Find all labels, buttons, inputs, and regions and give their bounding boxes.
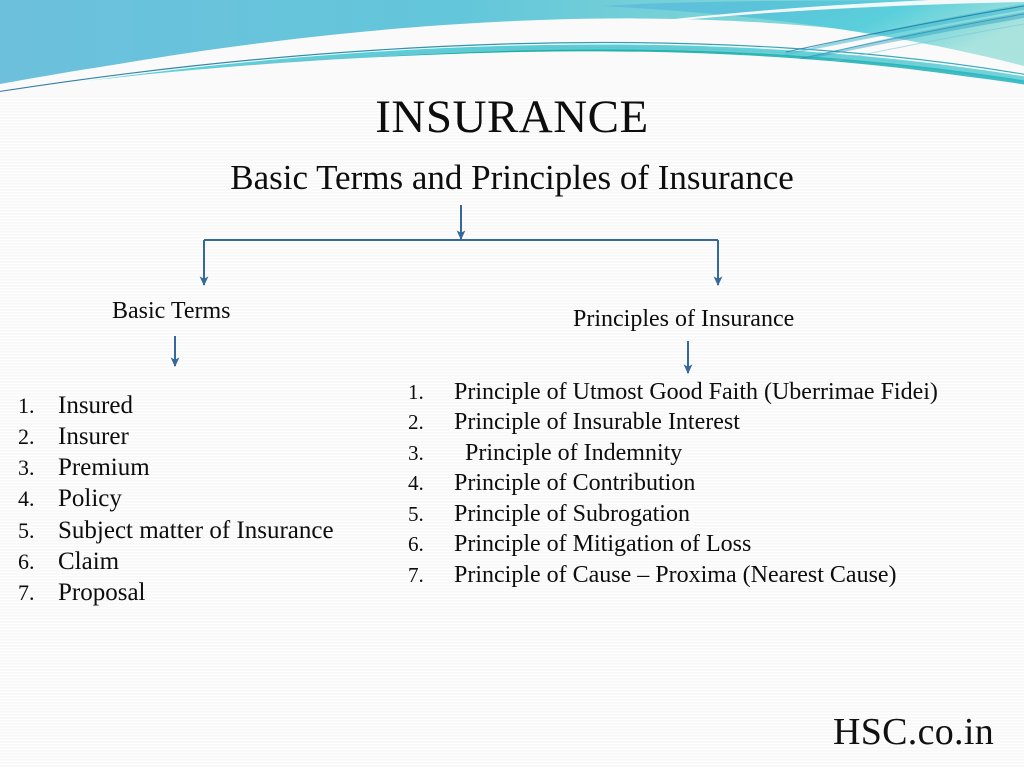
decorative-wave-header-graphic — [0, 0, 1024, 96]
list-item: 6. Claim — [18, 546, 334, 577]
list-item-label: Principle of Cause – Proxima (Nearest Ca… — [454, 560, 897, 590]
list-item: 3. Principle of Indemnity — [408, 438, 938, 468]
footer-watermark: HSC.co.in — [833, 710, 994, 754]
list-item-label: Premium — [58, 452, 150, 483]
list-item-number: 3. — [408, 440, 454, 467]
list-item-number: 7. — [18, 579, 58, 606]
list-item: 4. Principle of Contribution — [408, 468, 938, 498]
list-item: 1. Insured — [18, 390, 334, 421]
presentation-slide: INSURANCE Basic Terms and Principles of … — [0, 0, 1024, 768]
list-item-number: 1. — [18, 392, 58, 419]
list-item-label: Subject matter of Insurance — [58, 515, 334, 546]
list-item-number: 6. — [408, 531, 454, 558]
list-item: 4. Policy — [18, 483, 334, 514]
list-basic-terms: 1. Insured 2. Insurer 3. Premium 4. Poli… — [18, 390, 334, 608]
list-item-label: Principle of Utmost Good Faith (Uberrima… — [454, 377, 938, 407]
list-item: 5. Principle of Subrogation — [408, 499, 938, 529]
list-item-label: Principle of Indemnity — [454, 438, 682, 468]
list-item: 7. Proposal — [18, 577, 334, 608]
list-item-number: 3. — [18, 454, 58, 481]
list-item: 5. Subject matter of Insurance — [18, 515, 334, 546]
list-item-label: Principle of Mitigation of Loss — [454, 529, 751, 559]
list-item-label: Policy — [58, 483, 122, 514]
list-item: 2. Principle of Insurable Interest — [408, 407, 938, 437]
list-item-label: Insurer — [58, 421, 129, 452]
list-item-label: Principle of Contribution — [454, 468, 695, 498]
list-item-number: 5. — [408, 501, 454, 528]
list-item-number: 4. — [408, 470, 454, 497]
list-item: 2. Insurer — [18, 421, 334, 452]
list-item-number: 1. — [408, 379, 454, 406]
page-subtitle: Basic Terms and Principles of Insurance — [0, 159, 1024, 198]
list-item-label: Insured — [58, 390, 133, 421]
page-title: INSURANCE — [0, 93, 1024, 142]
branch-label-basic-terms: Basic Terms — [112, 298, 231, 325]
list-item: 1. Principle of Utmost Good Faith (Uberr… — [408, 377, 938, 407]
list-item: 7. Principle of Cause – Proxima (Nearest… — [408, 560, 938, 590]
list-item-label: Proposal — [58, 577, 146, 608]
list-item-number: 7. — [408, 562, 454, 589]
list-item-number: 2. — [408, 409, 454, 436]
list-item-label: Claim — [58, 546, 119, 577]
list-item-number: 5. — [18, 517, 58, 544]
list-item-label: Principle of Subrogation — [454, 499, 690, 529]
list-item: 3. Premium — [18, 452, 334, 483]
list-item: 6. Principle of Mitigation of Loss — [408, 529, 938, 559]
list-item-number: 6. — [18, 548, 58, 575]
list-item-number: 2. — [18, 423, 58, 450]
list-principles-of-insurance: 1. Principle of Utmost Good Faith (Uberr… — [408, 377, 938, 590]
list-item-number: 4. — [18, 485, 58, 512]
branch-label-principles: Principles of Insurance — [573, 306, 794, 333]
list-item-label: Principle of Insurable Interest — [454, 407, 740, 437]
